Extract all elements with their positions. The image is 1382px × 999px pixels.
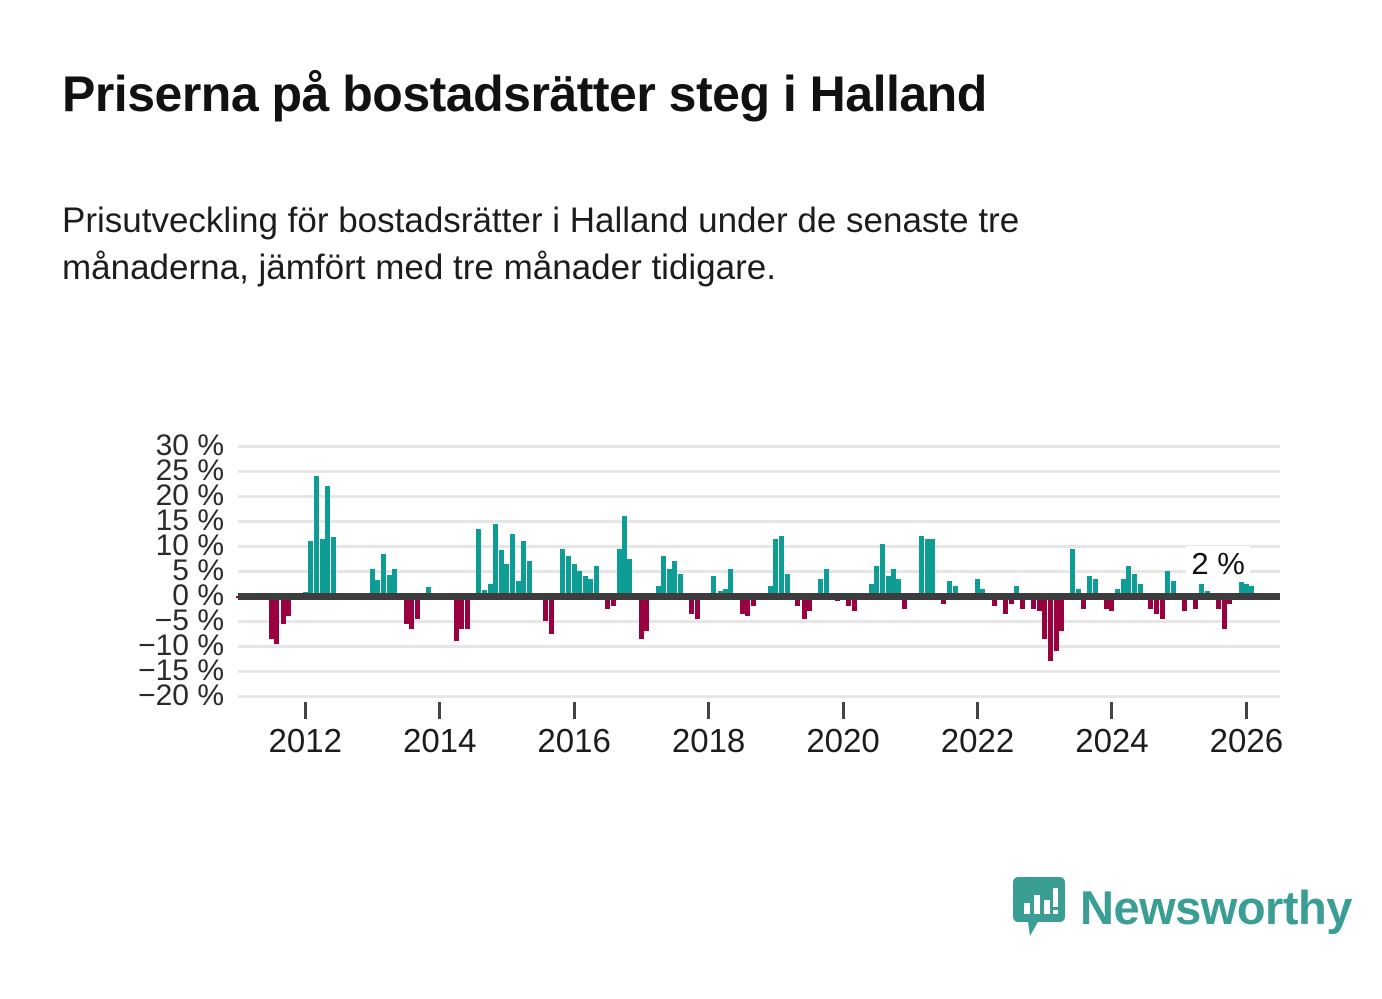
x-axis-tick-label: 2018 bbox=[672, 722, 745, 760]
logo-text: Newsworthy bbox=[1080, 884, 1352, 931]
bar bbox=[919, 536, 924, 596]
x-axis-tick-label: 2024 bbox=[1075, 722, 1148, 760]
page-title: Priserna på bostadsrätter steg i Halland bbox=[62, 66, 1292, 122]
bar bbox=[493, 524, 498, 597]
bar bbox=[510, 534, 515, 597]
bar bbox=[381, 554, 386, 597]
x-axis-tick-label: 2026 bbox=[1210, 722, 1283, 760]
bar bbox=[274, 596, 279, 644]
x-axis-tick bbox=[304, 702, 307, 719]
bar bbox=[454, 596, 459, 641]
bar bbox=[874, 566, 879, 596]
newsworthy-logo: Newsworthy bbox=[1012, 876, 1352, 938]
y-axis-labels: 30 %25 %20 %15 %10 %5 %0 %−5 %−10 %−15 %… bbox=[0, 420, 232, 720]
plot-area bbox=[238, 446, 1280, 696]
bar bbox=[880, 544, 885, 597]
bar bbox=[572, 564, 577, 597]
bar bbox=[594, 566, 599, 596]
bar bbox=[392, 569, 397, 597]
bar bbox=[1054, 596, 1059, 651]
bar bbox=[925, 539, 930, 597]
page-subtitle: Prisutveckling för bostadsrätter i Halla… bbox=[62, 198, 1172, 291]
bar bbox=[476, 529, 481, 597]
bar bbox=[521, 541, 526, 596]
bar bbox=[672, 561, 677, 596]
bar-chart-speech-bubble-icon bbox=[1012, 876, 1066, 938]
x-axis-tick bbox=[842, 702, 845, 719]
bar-series bbox=[238, 446, 1280, 696]
x-axis-tick-label: 2020 bbox=[806, 722, 879, 760]
bar bbox=[627, 559, 632, 597]
bar bbox=[1042, 596, 1047, 639]
bar bbox=[560, 549, 565, 597]
x-axis-tick-label: 2014 bbox=[403, 722, 476, 760]
bar bbox=[644, 596, 649, 631]
bar bbox=[824, 569, 829, 597]
x-axis-tick bbox=[1245, 702, 1248, 719]
bar bbox=[404, 596, 409, 624]
bar bbox=[314, 476, 319, 596]
bar bbox=[281, 596, 286, 624]
y-axis-tick-label: −20 % bbox=[138, 681, 224, 711]
bar bbox=[331, 537, 336, 596]
bar bbox=[1126, 566, 1131, 596]
zero-line bbox=[238, 593, 1280, 600]
chart-page: Priserna på bostadsrätter steg i Halland… bbox=[0, 0, 1382, 999]
bar bbox=[1070, 549, 1075, 597]
bar bbox=[465, 596, 470, 629]
bar bbox=[728, 569, 733, 597]
bar bbox=[566, 556, 571, 596]
bar bbox=[1222, 596, 1227, 629]
bar bbox=[269, 596, 274, 639]
value-annotation: 2 % bbox=[1186, 546, 1249, 582]
bar bbox=[1048, 596, 1053, 661]
bar bbox=[930, 539, 935, 597]
x-axis-tick-label: 2022 bbox=[941, 722, 1014, 760]
bar bbox=[661, 556, 666, 596]
x-axis-tick bbox=[573, 702, 576, 719]
bar bbox=[409, 596, 414, 629]
bar bbox=[320, 539, 325, 597]
bar bbox=[308, 541, 313, 596]
bar bbox=[325, 486, 330, 596]
bar bbox=[1059, 596, 1064, 631]
bar bbox=[370, 569, 375, 597]
bar bbox=[499, 550, 504, 596]
x-axis-tick-label: 2012 bbox=[269, 722, 342, 760]
bar bbox=[504, 564, 509, 597]
x-axis-tick-label: 2016 bbox=[537, 722, 610, 760]
bar bbox=[459, 596, 464, 629]
bar bbox=[639, 596, 644, 639]
bar bbox=[667, 569, 672, 597]
bar bbox=[773, 539, 778, 597]
x-axis-tick bbox=[976, 702, 979, 719]
x-axis-tick bbox=[438, 702, 441, 719]
bar bbox=[622, 516, 627, 596]
x-axis-tick bbox=[707, 702, 710, 719]
bar bbox=[779, 536, 784, 596]
bar bbox=[617, 549, 622, 597]
x-axis-tick bbox=[1110, 702, 1113, 719]
bar bbox=[549, 596, 554, 634]
bar-chart: 30 %25 %20 %15 %10 %5 %0 %−5 %−10 %−15 %… bbox=[0, 420, 1382, 780]
x-axis: 20122014201620182020202220242026 bbox=[238, 696, 1280, 776]
bar bbox=[891, 569, 896, 597]
bar bbox=[527, 561, 532, 596]
